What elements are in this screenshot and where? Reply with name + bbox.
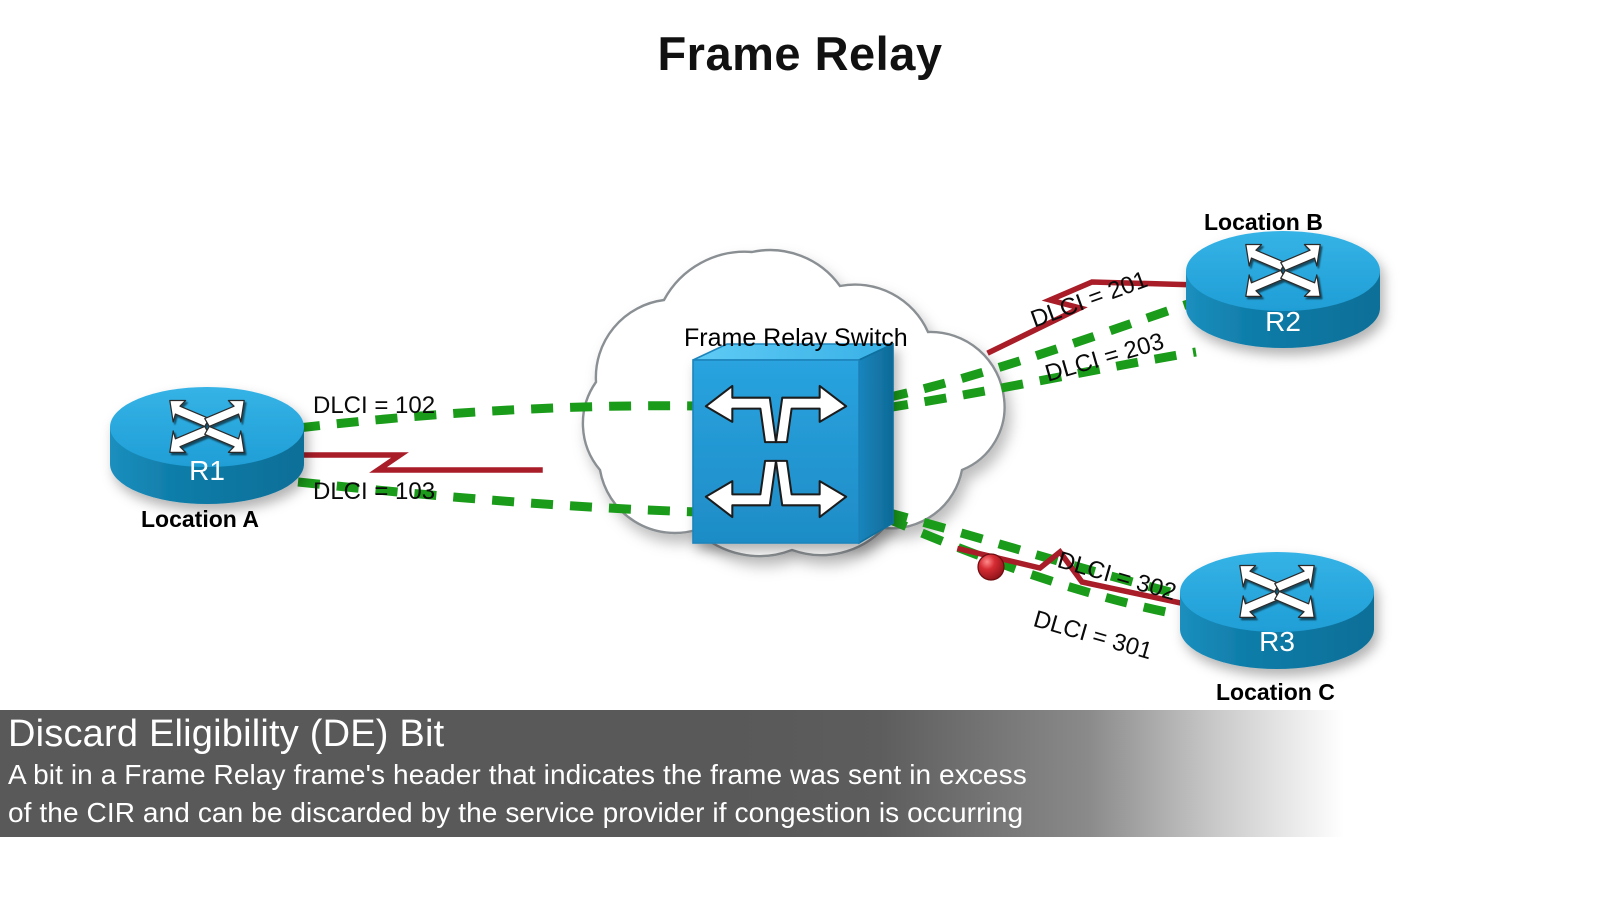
router-name-r2: R2 <box>1233 306 1333 338</box>
discard-eligibility-bit-marker <box>978 554 1004 580</box>
dlci-label-103: DLCI = 103 <box>313 478 435 506</box>
frame-relay-switch-label: Frame Relay Switch <box>684 324 908 353</box>
caption-title: Discard Eligibility (DE) Bit <box>8 712 1600 756</box>
router-name-r3: R3 <box>1227 626 1327 658</box>
router-name-r1: R1 <box>157 455 257 487</box>
serial-link-r1 <box>296 455 540 470</box>
location-label-c: Location C <box>1216 679 1335 706</box>
caption-bar: Discard Eligibility (DE) Bit A bit in a … <box>0 710 1600 837</box>
location-label-a: Location A <box>141 506 259 533</box>
dlci-label-102: DLCI = 102 <box>313 392 435 420</box>
slide-canvas: Frame Relay <box>0 0 1600 900</box>
location-label-b: Location B <box>1204 209 1323 236</box>
caption-line-1: A bit in a Frame Relay frame's header th… <box>8 756 1600 794</box>
frame-relay-switch-icon <box>693 344 893 543</box>
caption-line-2: of the CIR and can be discarded by the s… <box>8 794 1600 832</box>
